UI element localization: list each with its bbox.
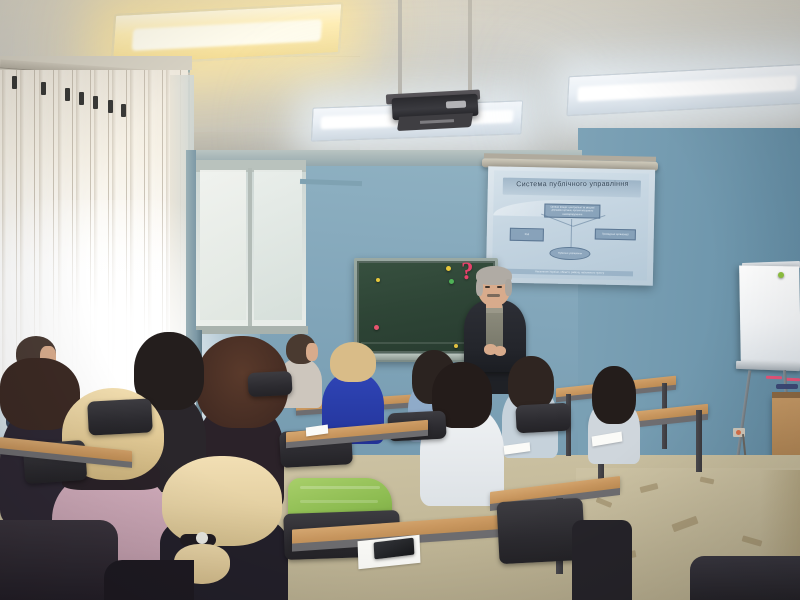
slide-footer: Населення України, області, району, насе… xyxy=(506,268,633,276)
jacket-quilt-line xyxy=(300,500,378,503)
magnet-yellow-bottom[interactable] xyxy=(454,344,458,348)
wall-outlet-plug xyxy=(736,430,741,435)
chair-back-far-right[interactable] xyxy=(572,520,632,600)
magnet-pink-left[interactable] xyxy=(374,325,379,330)
cabinet-item-blue xyxy=(776,384,798,389)
person-a9-hair-bead xyxy=(196,532,208,544)
chair-back[interactable] xyxy=(515,403,570,434)
chalk-smudge xyxy=(361,342,473,344)
magnet-yellow-left[interactable] xyxy=(376,278,380,282)
magnet-yellow-top[interactable] xyxy=(446,266,451,271)
presenter-moustache xyxy=(487,294,500,297)
chair-far-right-corner[interactable] xyxy=(690,556,800,600)
person-a1-face xyxy=(306,343,318,361)
desk-leg xyxy=(696,410,702,472)
presenter-hair-side-right xyxy=(505,279,512,296)
secondary-window-sill xyxy=(196,326,308,334)
flipchart-magnet[interactable] xyxy=(778,272,784,278)
presenter-eye-right xyxy=(497,286,502,288)
person-a5-hair xyxy=(508,356,554,410)
magnet-green[interactable] xyxy=(449,279,454,284)
person-a12-hair xyxy=(592,366,636,424)
slide-node-left: ЗМІ xyxy=(510,227,544,241)
projection-screen: Система публічного управління Органи вла… xyxy=(486,166,655,285)
chair-back[interactable] xyxy=(87,398,153,435)
flipchart-paper[interactable] xyxy=(739,265,800,364)
person-a2-hair xyxy=(330,342,376,382)
chair-front-left-2[interactable] xyxy=(104,560,194,600)
presenter-hand-right xyxy=(494,346,506,356)
chair-front-left[interactable] xyxy=(0,520,118,600)
slide-node-top: Органи влади: центральні та місцеві держ… xyxy=(544,204,600,219)
presenter-hair-side-left xyxy=(476,279,483,296)
classroom-photo: Система публічного управління Органи вла… xyxy=(0,0,800,600)
projector-lens xyxy=(446,100,466,108)
presenter-eye-left xyxy=(485,286,490,288)
projector-rod-left xyxy=(398,0,402,96)
presentation-slide: Система публічного управління Органи вла… xyxy=(492,170,649,280)
slide-title: Система публічного управління xyxy=(506,180,639,187)
marker-pink-2[interactable] xyxy=(786,378,800,381)
marker-pink-1[interactable] xyxy=(766,376,782,380)
secondary-window-mullion xyxy=(248,168,252,330)
slide-node-right: Громадські організації xyxy=(595,228,636,241)
chair-back[interactable] xyxy=(247,371,292,397)
question-mark-cutout: ? xyxy=(461,259,474,284)
slide-node-center: Публічне управління xyxy=(550,246,591,260)
jacket-quilt-line xyxy=(300,486,380,489)
cabinet-top xyxy=(772,392,800,398)
slide-link-center xyxy=(570,219,571,247)
secondary-window-pane-left xyxy=(200,170,246,320)
person-a9-hair xyxy=(162,456,282,546)
secondary-window-pane-right xyxy=(254,170,302,320)
projector-rod-right xyxy=(468,0,472,92)
